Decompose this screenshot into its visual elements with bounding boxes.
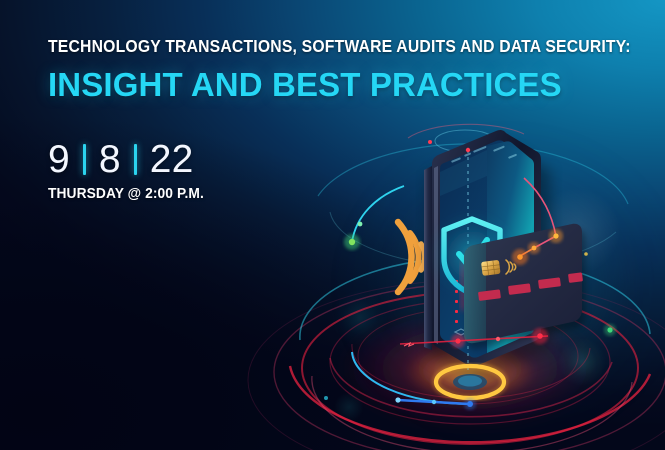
date-year: 22 <box>150 140 194 179</box>
headline-block: TECHNOLOGY TRANSACTIONS, SOFTWARE AUDITS… <box>48 36 578 104</box>
date-separator-2 <box>134 144 137 175</box>
event-date-row: 9 8 22 <box>48 139 213 179</box>
date-day: 8 <box>99 140 121 179</box>
event-date-block: 9 8 22 THURSDAY @ 2:00 P.M. <box>48 139 213 202</box>
date-separator-1 <box>83 144 86 175</box>
date-month: 9 <box>48 140 70 179</box>
event-time-text: THURSDAY @ 2:00 P.M. <box>48 186 204 202</box>
page-title: INSIGHT AND BEST PRACTICES <box>48 66 578 104</box>
background-teal-bloom <box>330 120 665 450</box>
webinar-promo-banner: TECHNOLOGY TRANSACTIONS, SOFTWARE AUDITS… <box>0 0 665 450</box>
kicker-text: TECHNOLOGY TRANSACTIONS, SOFTWARE AUDITS… <box>48 36 528 57</box>
